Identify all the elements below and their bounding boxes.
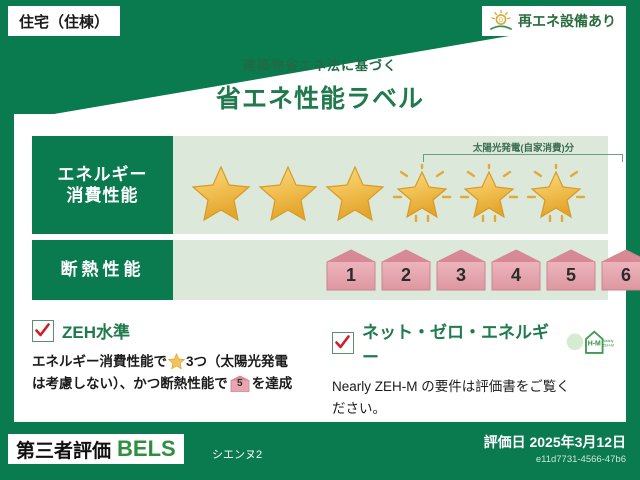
insulation-grade-6: 6 bbox=[600, 249, 640, 291]
zeh-desc-part3: は考慮しない）、かつ断熱性能で bbox=[32, 376, 228, 391]
net-zero-energy-checkbox[interactable] bbox=[332, 332, 354, 354]
svg-text:D: D bbox=[499, 18, 504, 24]
building-name: シエンヌ2 bbox=[212, 446, 262, 462]
energy-performance-label-box: エネルギー 消費性能 bbox=[32, 136, 173, 234]
sun-icon: D bbox=[488, 9, 514, 33]
insulation-grade-1-value: 1 bbox=[325, 249, 377, 291]
insulation-performance-row: 断熱性能 1 2 bbox=[32, 240, 608, 300]
insulation-grade-list: 1 2 3 bbox=[173, 240, 608, 300]
svg-text:Nearly: Nearly bbox=[603, 339, 614, 343]
evaluation-id: e11d7731-4566-47b6 bbox=[536, 454, 626, 465]
certification-checks: ZEH水準 エネルギー消費性能で 3つ（太陽光発電 は考慮しない）、かつ断熱性能… bbox=[32, 318, 614, 421]
net-zero-energy-header: ネット・ゼロ・エネルギー H-M Nearly ZEH-M bbox=[332, 318, 614, 368]
net-zero-energy-block: ネット・ゼロ・エネルギー H-M Nearly ZEH-M Nearly ZEH… bbox=[332, 318, 614, 421]
insulation-grade-2-value: 2 bbox=[380, 249, 432, 291]
energy-performance-label: 住宅（住棟） D 再エネ設備あり 建築物省エネ法に基づく 省エネ性能ラベル bbox=[0, 0, 640, 480]
star-6-solar bbox=[522, 158, 589, 230]
zeh-standard-header: ZEH水準 bbox=[32, 318, 314, 343]
svg-text:ZEH-M: ZEH-M bbox=[603, 343, 614, 347]
inline-star-icon bbox=[168, 353, 185, 369]
label-footer: 第三者評価 BELS シエンヌ2 評価日 2025年3月12日 e11d7731… bbox=[0, 426, 640, 480]
star-4-solar bbox=[388, 158, 455, 230]
label-title-block: 建築物省エネ法に基づく 省エネ性能ラベル bbox=[0, 55, 640, 115]
housing-type-chip: 住宅（住棟） bbox=[8, 6, 120, 36]
zeh-standard-block: ZEH水準 エネルギー消費性能で 3つ（太陽光発電 は考慮しない）、かつ断熱性能… bbox=[32, 318, 314, 421]
renewable-equipment-badge: D 再エネ設備あり bbox=[482, 6, 626, 36]
insulation-grade-2: 2 bbox=[380, 249, 432, 291]
third-party-label: 第三者評価 bbox=[16, 436, 111, 463]
renewable-badge-label: 再エネ設備あり bbox=[518, 11, 616, 31]
zeh-m-logo-icon: H-M Nearly ZEH-M bbox=[562, 328, 614, 358]
insulation-grades-panel: 1 2 3 bbox=[173, 240, 608, 300]
insulation-grade-4-value: 4 bbox=[490, 249, 542, 291]
insulation-grade-3: 3 bbox=[435, 249, 487, 291]
zeh-standard-checkbox[interactable] bbox=[32, 320, 54, 342]
star-2 bbox=[254, 158, 321, 230]
zeh-desc-part4: を達成 bbox=[252, 376, 293, 391]
insulation-performance-label-box: 断熱性能 bbox=[32, 240, 173, 300]
energy-performance-stars-panel: 太陽光発電(自家消費)分 bbox=[173, 136, 608, 234]
housing-type-label: 住宅（住棟） bbox=[19, 11, 109, 32]
page-title: 省エネ性能ラベル bbox=[0, 79, 640, 115]
bels-chip: 第三者評価 BELS bbox=[8, 434, 184, 464]
evaluation-date: 評価日 2025年3月12日 bbox=[484, 432, 626, 452]
title-subtitle: 建築物省エネ法に基づく bbox=[0, 55, 640, 74]
solar-caption-text: 太陽光発電(自家消費)分 bbox=[473, 143, 574, 154]
net-zero-energy-description: Nearly ZEH-M の要件は評価書をご覧く ださい。 bbox=[332, 376, 614, 421]
bels-logo-text: BELS bbox=[117, 436, 176, 462]
star-5-solar bbox=[455, 158, 522, 230]
insulation-grade-5: 5 bbox=[545, 249, 597, 291]
energy-performance-row: エネルギー 消費性能 太陽光発電(自家消費)分 bbox=[32, 136, 608, 234]
zeh-standard-title: ZEH水準 bbox=[62, 318, 130, 343]
inline-grade-badge: 5 bbox=[230, 375, 250, 392]
insulation-grade-6-value: 6 bbox=[600, 249, 640, 291]
net-zero-energy-title: ネット・ゼロ・エネルギー bbox=[362, 318, 550, 368]
insulation-grade-3-value: 3 bbox=[435, 249, 487, 291]
insulation-grade-1: 1 bbox=[325, 249, 377, 291]
evaluation-date-label: 評価日 bbox=[484, 434, 526, 450]
energy-label-line1: エネルギー bbox=[58, 164, 148, 185]
insulation-grade-4: 4 bbox=[490, 249, 542, 291]
nze-desc-line2: ださい。 bbox=[332, 401, 386, 416]
svg-text:H-M: H-M bbox=[588, 341, 601, 348]
nze-desc-line1: Nearly ZEH-M の要件は評価書をご覧く bbox=[332, 379, 570, 394]
inline-grade-value: 5 bbox=[230, 375, 250, 392]
star-rating bbox=[173, 158, 608, 230]
zeh-desc-part1: エネルギー消費性能で bbox=[32, 354, 167, 369]
star-1 bbox=[187, 158, 254, 230]
insulation-grade-5-value: 5 bbox=[545, 249, 597, 291]
zeh-standard-description: エネルギー消費性能で 3つ（太陽光発電 は考慮しない）、かつ断熱性能で 5を達成 bbox=[32, 351, 314, 396]
energy-label-line2: 消費性能 bbox=[67, 185, 139, 206]
evaluation-date-value: 2025年3月12日 bbox=[529, 434, 626, 450]
zeh-desc-part2: 3つ（太陽光発電 bbox=[186, 354, 288, 369]
star-3 bbox=[321, 158, 388, 230]
insulation-label: 断熱性能 bbox=[61, 259, 145, 280]
